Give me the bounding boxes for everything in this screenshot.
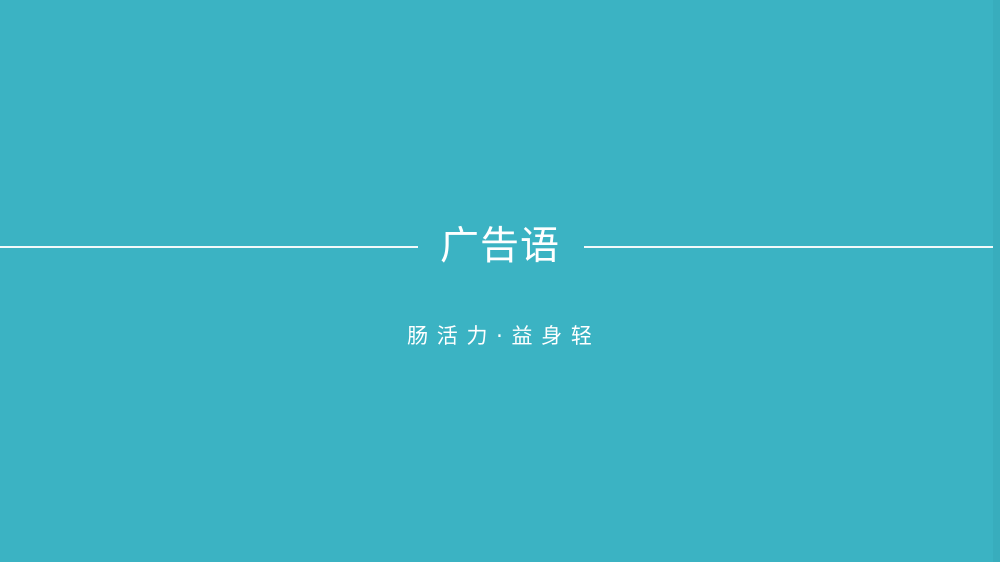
slide-title: 广告语 [0, 219, 1000, 275]
slide-subtitle-text: 肠 活 力 · 益 身 轻 [407, 318, 593, 354]
slide-title-text: 广告语 [440, 219, 560, 275]
slide-subtitle: 肠 活 力 · 益 身 轻 [0, 318, 1000, 354]
right-edge-strip [993, 0, 1000, 562]
advertising-slogan-slide: 广告语 肠 活 力 · 益 身 轻 [0, 0, 1000, 562]
